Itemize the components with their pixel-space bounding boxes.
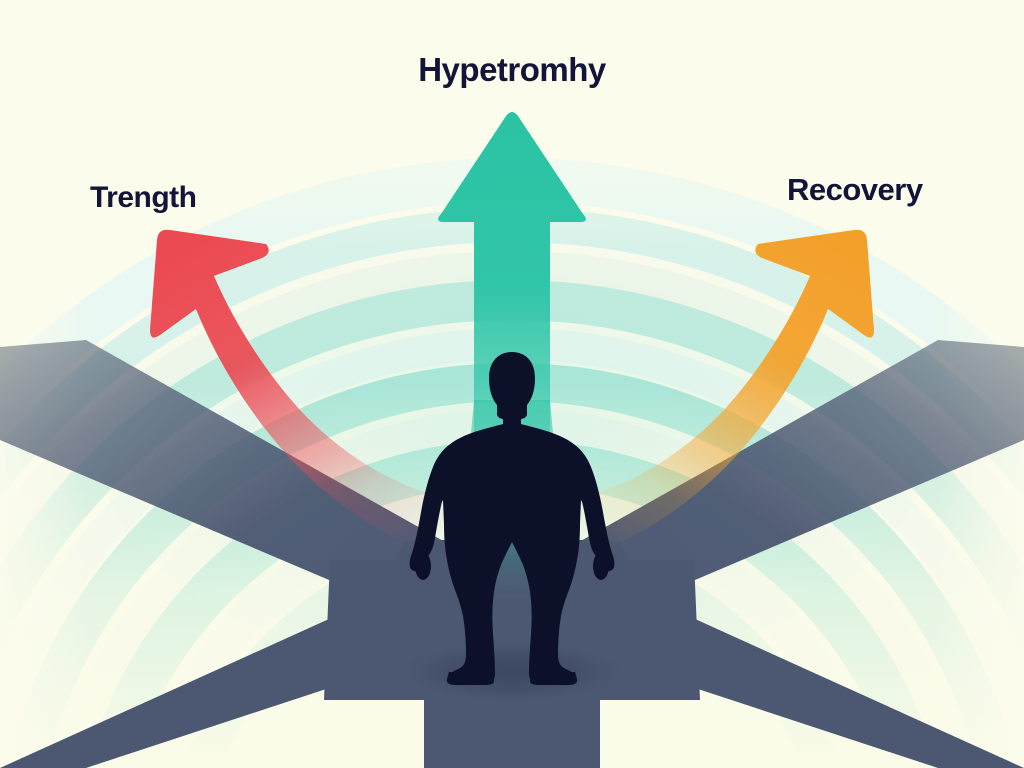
figure-ground-shadow (387, 638, 637, 706)
label-strength: Trength (90, 183, 197, 213)
label-recovery: Recovery (787, 174, 923, 205)
illustration-canvas: Hypetromhy Trength Recovery (0, 0, 1024, 768)
label-hypertrophy: Hypetromhy (418, 53, 606, 86)
scene-artwork (0, 0, 1024, 768)
